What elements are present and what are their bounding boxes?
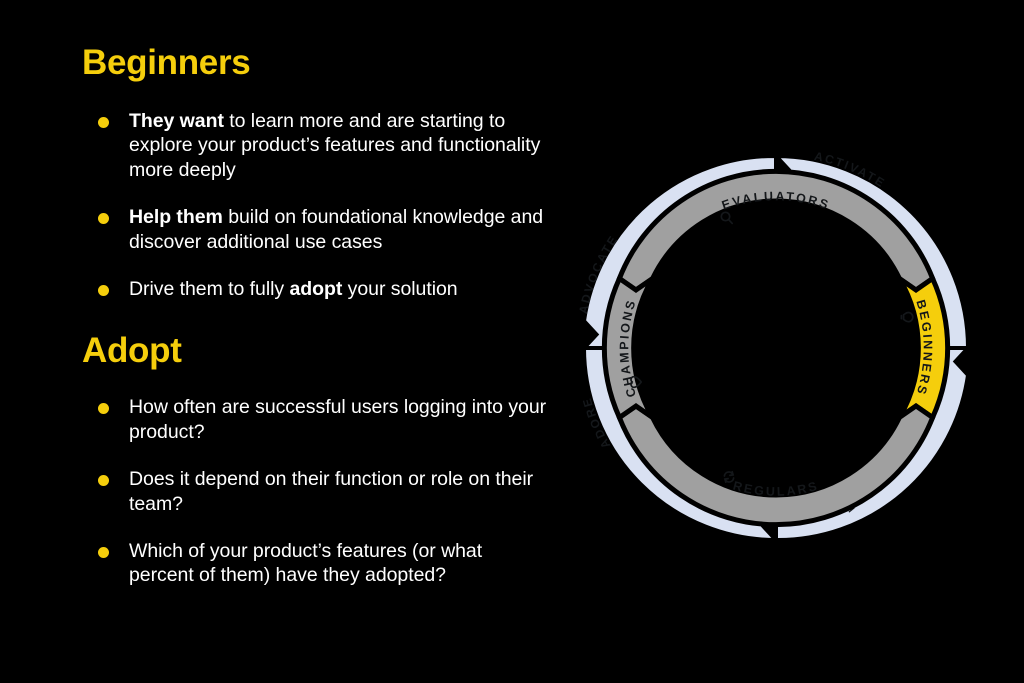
list-item-emphasis: They want [129, 110, 224, 132]
refresh-cycle-icon [724, 472, 733, 483]
customer-lifecycle-wheel: ACTIVATE ADOPT ADORE ADVOCATE [558, 130, 994, 566]
list-item-emphasis: Help them [129, 206, 223, 228]
list-item-body-tail: your solution [342, 278, 457, 300]
bullet-dot-icon [98, 403, 109, 414]
lightbulb-icon [901, 313, 912, 322]
list-item-emphasis: adopt [289, 278, 342, 300]
list-item-text: Which of your product’s features (or wha… [129, 539, 552, 589]
page-subtitle: Adopt [82, 332, 552, 371]
bullet-dot-icon [98, 475, 109, 486]
magnifier-icon [721, 212, 732, 223]
list-item: Which of your product’s features (or wha… [82, 539, 552, 589]
list-item-text: Help them build on foundational knowledg… [129, 205, 552, 255]
page-title: Beginners [82, 44, 552, 83]
list-item-text: Drive them to fully adopt your solution [129, 277, 458, 302]
list-item-body: Drive them to fully [129, 278, 289, 300]
bullet-dot-icon [98, 117, 109, 128]
list-item: They want to learn more and are starting… [82, 109, 552, 184]
list-item: Help them build on foundational knowledg… [82, 205, 552, 255]
bullet-dot-icon [98, 547, 109, 558]
wheel-center-hole [666, 238, 886, 458]
list-item: How often are successful users logging i… [82, 395, 552, 445]
bullet-list-beginners: They want to learn more and are starting… [82, 109, 552, 303]
slide-root: Beginners They want to learn more and ar… [0, 0, 1024, 683]
bullet-dot-icon [98, 213, 109, 224]
list-item: Does it depend on their function or role… [82, 467, 552, 517]
list-item-text: Does it depend on their function or role… [129, 467, 552, 517]
bullet-dot-icon [98, 285, 109, 296]
list-item-text: They want to learn more and are starting… [129, 109, 552, 184]
list-item-text: How often are successful users logging i… [129, 395, 552, 445]
list-item: Drive them to fully adopt your solution [82, 277, 552, 302]
text-content: Beginners They want to learn more and ar… [82, 44, 552, 610]
bullet-list-adopt: How often are successful users logging i… [82, 395, 552, 589]
